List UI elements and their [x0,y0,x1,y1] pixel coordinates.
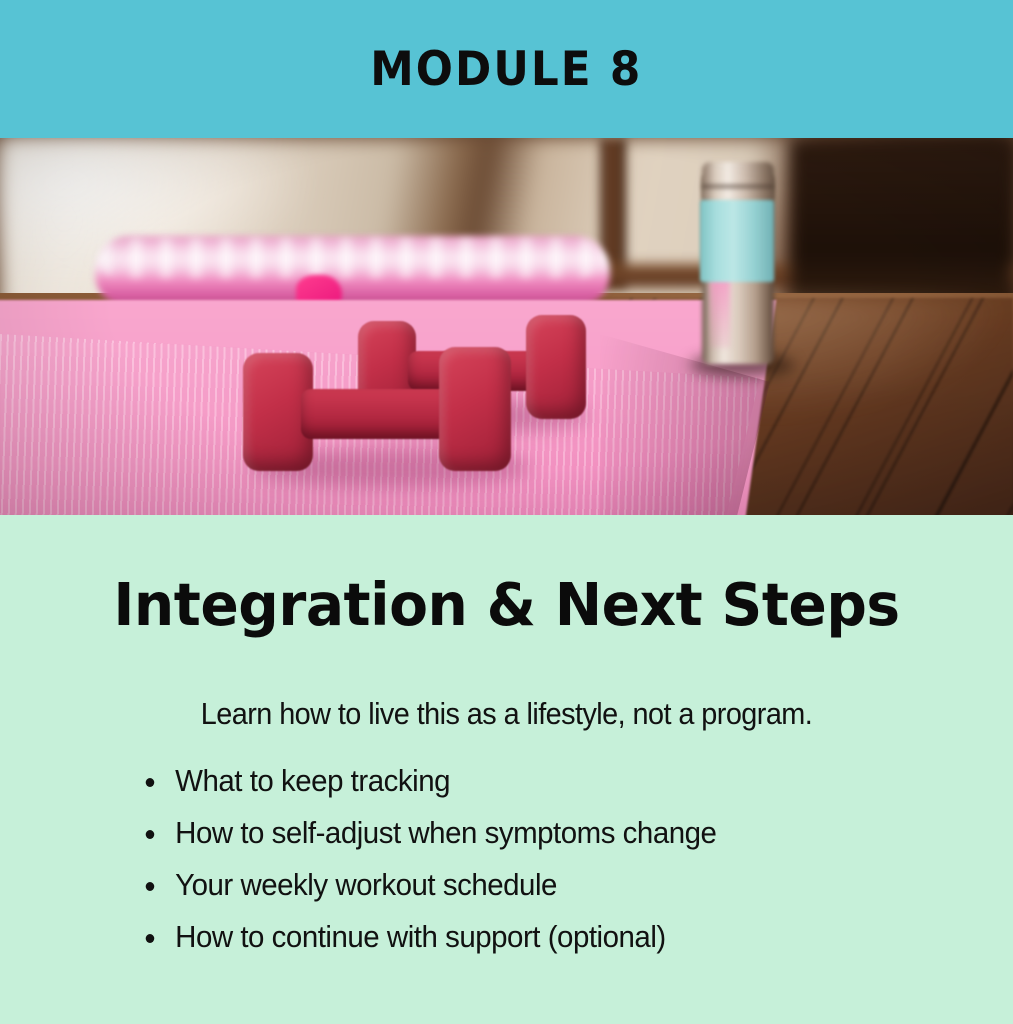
list-item: How to continue with support (optional) [140,918,919,955]
slide-title: Integration & Next Steps [20,575,992,634]
list-item: Your weekly workout schedule [140,866,919,903]
hero-photo [0,138,1013,515]
content-panel: Integration & Next Steps Learn how to li… [0,515,1013,1024]
slide-subtitle: Learn how to live this as a lifestyle, n… [35,698,977,729]
module-header-band: MODULE 8 [0,0,1013,138]
list-item: What to keep tracking [140,762,919,799]
module-label: MODULE 8 [370,46,642,93]
module-slide: MODULE 8 [0,0,1013,1024]
bullet-list: What to keep tracking How to self-adjust… [140,762,960,970]
list-item: How to self-adjust when symptoms change [140,814,919,851]
photo-vignette [0,138,1013,515]
